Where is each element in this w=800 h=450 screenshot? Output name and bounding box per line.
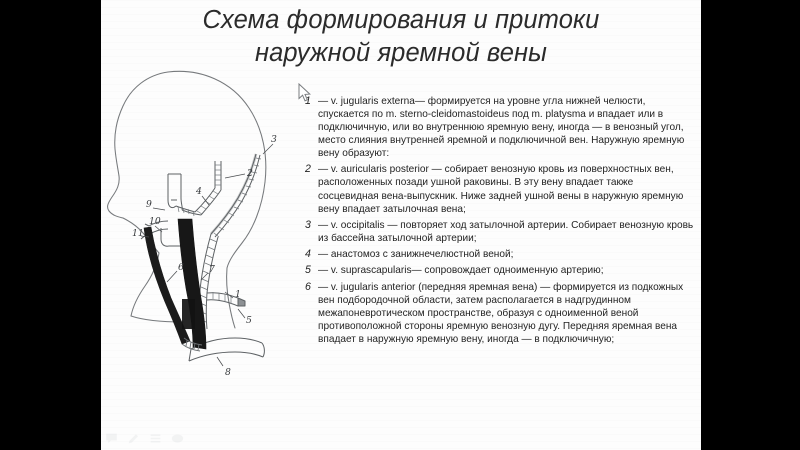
presentation-toolbar[interactable] bbox=[105, 432, 184, 445]
legend-number-3: 3 bbox=[305, 219, 311, 232]
legend-number-2: 2 bbox=[305, 163, 311, 176]
figure-label-6: 6 bbox=[178, 262, 184, 273]
anatomy-diagram: 3 2 4 5 6 7 8 9 10 11 1 bbox=[105, 66, 315, 406]
figure-label-7: 7 bbox=[209, 264, 215, 275]
letterbox-left bbox=[0, 0, 101, 450]
title-line-1: Схема формирования и притоки bbox=[203, 6, 600, 34]
legend-item-4: 4 — анастомоз с занижнечелюстной веной; bbox=[305, 248, 695, 261]
legend-text-3: — v. occipitalis — повторяет ход затылоч… bbox=[318, 219, 695, 245]
legend-number-1: 1 bbox=[305, 95, 311, 108]
legend-list: 1 — v. jugularis externa— формируется на… bbox=[305, 95, 695, 349]
legend-number-5: 5 bbox=[305, 264, 311, 277]
legend-text-4: — анастомоз с занижнечелюстной веной; bbox=[318, 248, 695, 261]
letterbox-right bbox=[701, 0, 800, 450]
legend-item-5: 5 — v. suprascapularis— сопровождает одн… bbox=[305, 264, 695, 277]
figure-label-9: 9 bbox=[146, 199, 152, 210]
legend-number-4: 4 bbox=[305, 248, 311, 261]
figure-label-8: 8 bbox=[225, 367, 231, 378]
legend-item-6: 6 — v. jugularis anterior (передняя ярем… bbox=[305, 281, 695, 346]
legend-number-6: 6 bbox=[305, 281, 311, 294]
menu-icon[interactable] bbox=[149, 432, 162, 445]
page-title: Схема формирования и притоки наружной яр… bbox=[101, 4, 701, 70]
pen-icon[interactable] bbox=[127, 432, 140, 445]
speech-bubble-icon[interactable] bbox=[105, 432, 118, 445]
legend-item-3: 3 — v. occipitalis — повторяет ход затыл… bbox=[305, 219, 695, 245]
title-line-2: наружной яремной вены bbox=[101, 37, 701, 70]
figure-label-1: 1 bbox=[235, 289, 241, 300]
legend-text-1: — v. jugularis externa— формируется на у… bbox=[318, 95, 695, 160]
figure-label-10: 10 bbox=[149, 216, 161, 227]
presentation-screen: Схема формирования и притоки наружной яр… bbox=[0, 0, 800, 450]
legend-text-2: — v. auricularis posterior — собирает ве… bbox=[318, 163, 695, 215]
legend-text-6: — v. jugularis anterior (передняя яремна… bbox=[318, 281, 695, 346]
legend-item-2: 2 — v. auricularis posterior — собирает … bbox=[305, 163, 695, 215]
figure-label-11: 11 bbox=[132, 228, 144, 239]
figure-label-4: 4 bbox=[195, 186, 202, 197]
legend-text-5: — v. suprascapularis— сопровождает однои… bbox=[318, 264, 695, 277]
slide-canvas: Схема формирования и притоки наружной яр… bbox=[101, 0, 701, 450]
ellipse-icon[interactable] bbox=[171, 432, 184, 445]
figure-label-3: 3 bbox=[271, 134, 277, 145]
legend-item-1: 1 — v. jugularis externa— формируется на… bbox=[305, 95, 695, 160]
figure-label-5: 5 bbox=[246, 315, 252, 326]
figure-label-2: 2 bbox=[246, 168, 253, 179]
